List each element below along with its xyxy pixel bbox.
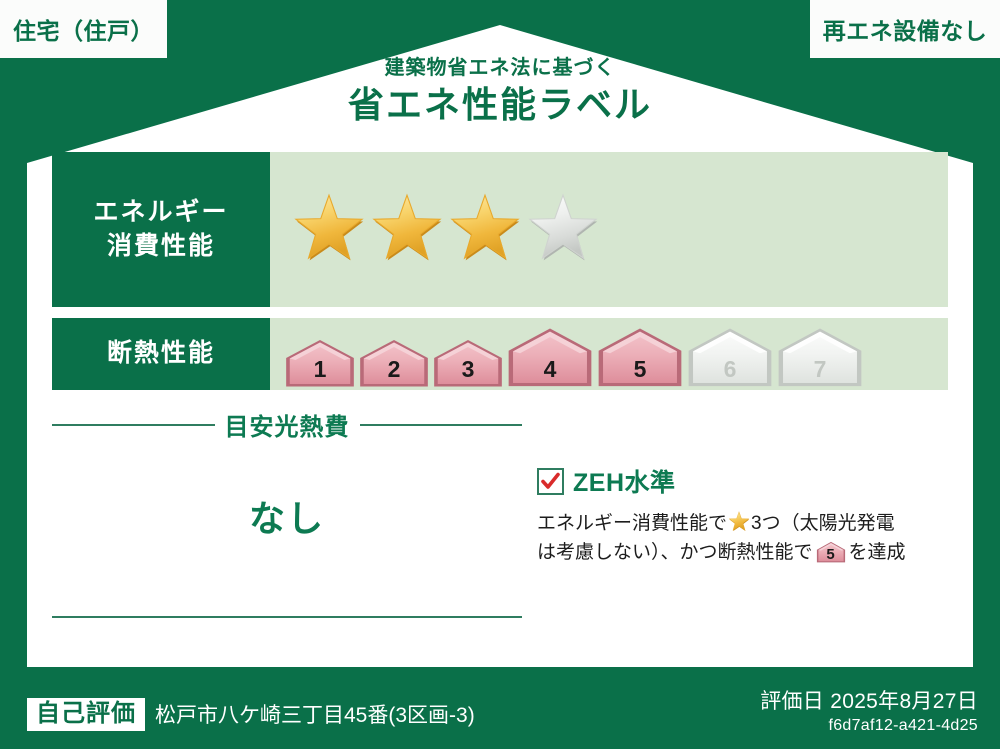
rule-right	[360, 424, 523, 426]
insulation-level-value: 7	[776, 358, 864, 381]
evaluation-id: f6d7af12-a421-4d25	[760, 717, 978, 735]
zeh-desc-star-count: 3つ（太陽光発電	[751, 513, 895, 534]
page-title: 省エネ性能ラベル	[0, 82, 1000, 127]
insulation-performance-row: 断熱性能 1234567	[52, 318, 948, 390]
evaluation-date: 評価日 2025年8月27日	[760, 685, 978, 715]
property-address: 松戸市八ケ崎三丁目45番(3区画-3)	[155, 699, 475, 729]
check-icon	[539, 470, 562, 493]
energy-performance-label-line1: エネルギー	[93, 196, 228, 230]
insulation-level-5: 5	[596, 326, 684, 388]
zeh-header: ZEH水準	[537, 463, 947, 499]
estimated-cost-header: 目安光熱費	[52, 407, 522, 442]
zeh-checkbox[interactable]	[537, 468, 564, 495]
footer-left: 自己評価 松戸市八ケ崎三丁目45番(3区画-3)	[27, 698, 475, 731]
insulation-level-1: 1	[284, 338, 356, 388]
insulation-level-value: 4	[506, 358, 594, 381]
house-icon-inline-value: 5	[816, 547, 846, 562]
zeh-description: エネルギー消費性能で3つ（太陽光発電 は考慮しない）、かつ断熱性能で5を達成	[537, 509, 947, 568]
page-title-block: 建築物省エネ法に基づく 省エネ性能ラベル	[0, 57, 1000, 127]
insulation-performance-body: 1234567	[270, 318, 948, 390]
footer-right: 評価日 2025年8月27日 f6d7af12-a421-4d25	[760, 685, 978, 735]
zeh-block: ZEH水準 エネルギー消費性能で3つ（太陽光発電 は考慮しない）、かつ断熱性能で…	[537, 463, 947, 568]
energy-performance-label: 住宅（住戸） 再エネ設備なし 建築物省エネ法に基づく 省エネ性能ラベル エネルギ…	[0, 0, 1000, 749]
insulation-performance-label: 断熱性能	[52, 318, 270, 390]
rule-left	[52, 424, 215, 426]
estimated-cost-title: 目安光熱費	[225, 407, 350, 442]
self-evaluation-badge: 自己評価	[27, 698, 145, 731]
insulation-level-4: 4	[506, 326, 594, 388]
estimated-cost-bottom-rule	[52, 616, 522, 618]
house-icon-inline: 5	[816, 541, 846, 563]
insulation-level-value: 6	[686, 358, 774, 381]
insulation-level-7: 7	[776, 326, 864, 388]
zeh-desc-part1: エネルギー消費性能で	[537, 513, 727, 534]
insulation-performance-label-text: 断熱性能	[107, 337, 215, 371]
badge-renewable-energy-label: 再エネ設備なし	[823, 12, 988, 46]
page-subtitle: 建築物省エネ法に基づく	[0, 57, 1000, 79]
star-icon-filled	[370, 193, 444, 267]
badge-renewable-energy: 再エネ設備なし	[810, 0, 1000, 58]
zeh-desc-part2: は考慮しない）、かつ断熱性能で	[537, 542, 813, 563]
insulation-level-value: 5	[596, 358, 684, 381]
zeh-desc-part3: を達成	[849, 542, 906, 563]
energy-performance-label-line2: 消費性能	[107, 230, 215, 264]
insulation-level-value: 3	[432, 358, 504, 381]
star-rating	[292, 193, 600, 267]
star-icon-filled	[292, 193, 366, 267]
star-icon-filled	[728, 511, 750, 533]
star-icon-empty	[526, 193, 600, 267]
insulation-level-value: 1	[284, 358, 356, 381]
insulation-level-2: 2	[358, 338, 430, 388]
insulation-level-3: 3	[432, 338, 504, 388]
star-icon-inline	[728, 511, 750, 533]
energy-performance-label: エネルギー 消費性能	[52, 152, 270, 307]
badge-building-type-label: 住宅（住戸）	[13, 12, 154, 46]
zeh-title: ZEH水準	[573, 463, 676, 499]
star-icon-filled	[448, 193, 522, 267]
insulation-level-value: 2	[358, 358, 430, 381]
badge-building-type: 住宅（住戸）	[0, 0, 167, 58]
estimated-cost-value: なし	[52, 490, 522, 542]
insulation-level-scale: 1234567	[284, 316, 864, 392]
insulation-level-6: 6	[686, 326, 774, 388]
energy-performance-body	[270, 152, 948, 307]
energy-performance-row: エネルギー 消費性能	[52, 152, 948, 307]
